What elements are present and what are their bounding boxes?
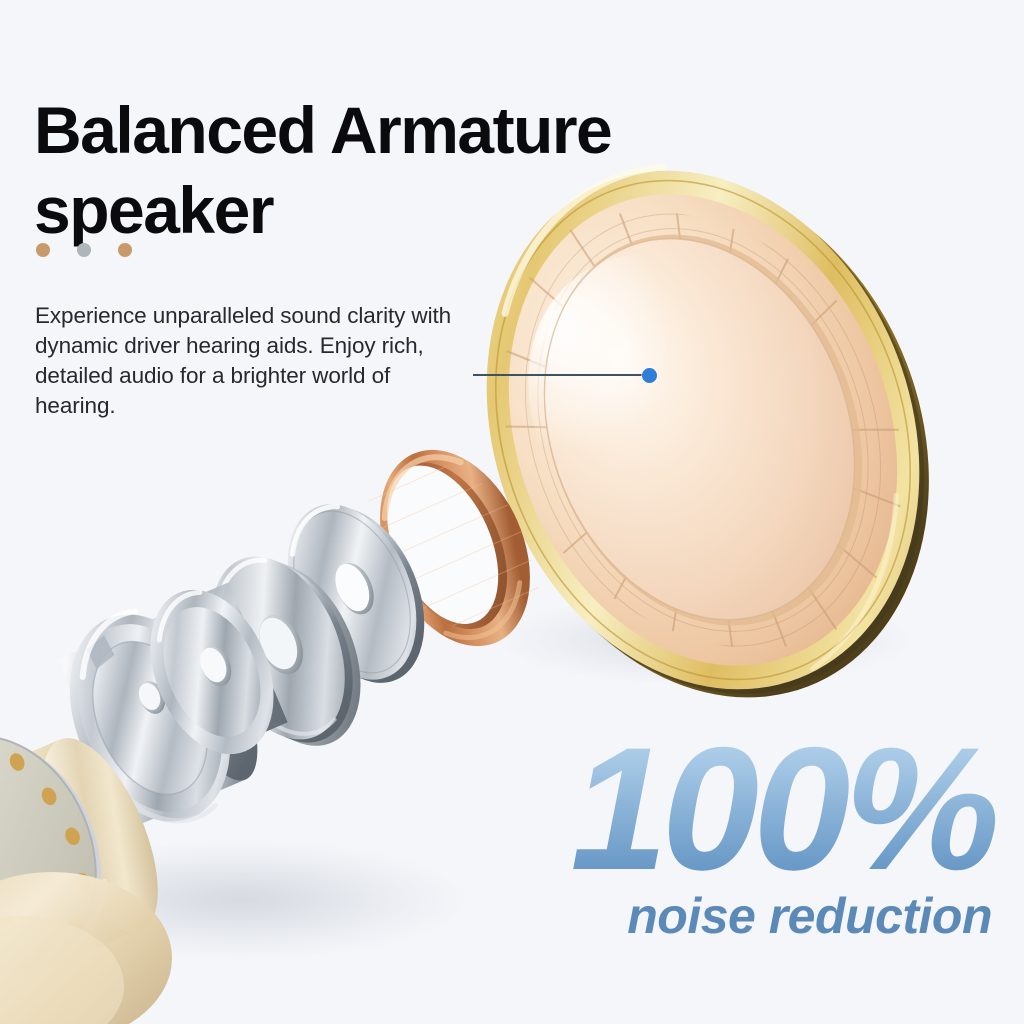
product-feature-banner: Balanced Armature speaker Experience unp… <box>0 0 1024 1024</box>
accent-dots <box>36 243 132 257</box>
noise-reduction-stat: 100% noise reduction <box>424 726 1000 944</box>
diaphragm-shadow <box>496 594 916 686</box>
accent-dot-2 <box>77 243 91 257</box>
feature-description: Experience unparalleled sound clarity wi… <box>35 301 467 421</box>
accent-dot-1 <box>36 243 50 257</box>
stat-caption: noise reduction <box>424 888 1000 944</box>
housing-shell <box>0 686 182 1024</box>
voice-coil-ring <box>351 425 561 669</box>
silver-spacer-ring <box>185 531 386 770</box>
page-title: Balanced Armature speaker <box>34 90 814 250</box>
silver-magnet-assembly <box>40 571 297 848</box>
assembly-shadow <box>10 840 470 960</box>
contact-pins <box>0 742 115 935</box>
callout-point-marker <box>642 368 657 383</box>
accent-dot-3 <box>118 243 132 257</box>
silver-washer <box>263 482 450 705</box>
callout-leader-line <box>473 374 649 376</box>
stat-value: 100% <box>424 726 1000 894</box>
diaphragm-callout <box>470 364 670 388</box>
